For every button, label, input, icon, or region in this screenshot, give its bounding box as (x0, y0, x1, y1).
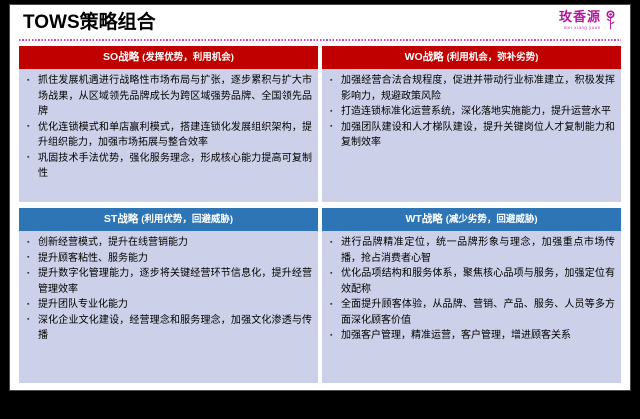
list-item: 提升团队专业化能力 (22, 297, 312, 313)
quadrant-wt-title: WT战略 (405, 213, 442, 225)
list-item: 优化品项结构和服务体系，聚焦核心品项与服务，加强定位有效配称 (325, 266, 615, 297)
quadrant-st-header: ST战略 (利用优势，回避威胁) (19, 208, 318, 231)
quadrant-so: SO战略 (发挥优势，利用机会) 抓住发展机遇进行战略性市场布局与扩张，逐步累积… (19, 46, 318, 202)
list-item: 深化企业文化建设，经营理念和服务理念，加强文化渗透与传播 (22, 313, 312, 344)
brand-name-cn: 玫香源 (559, 10, 601, 24)
slide-canvas: TOWS策略组合 玫香源 mei xiang yuan (9, 4, 631, 391)
page-title: TOWS策略组合 (19, 11, 621, 35)
rose-icon (602, 9, 619, 31)
list-item: 提升数字化管理能力，逐步将关键经营环节信息化，提升经营管理效率 (22, 266, 312, 297)
quadrant-so-bullets: 抓住发展机遇进行战略性市场布局与扩张，逐步累积与扩大市场战果，从区域领先品牌成长… (22, 73, 312, 182)
quadrant-wo-note: (利用机会，弥补劣势) (447, 52, 539, 63)
quadrant-st-body: 创新经营模式，提升在线营销能力 提升顾客粘性、服务能力 提升数字化管理能力，逐步… (19, 231, 318, 383)
tows-matrix: SO战略 (发挥优势，利用机会) 抓住发展机遇进行战略性市场布局与扩张，逐步累积… (19, 46, 621, 383)
quadrant-wt: WT战略 (减少劣势，回避威胁) 进行品牌精准定位，统一品牌形象与理念，加强重点… (322, 208, 621, 383)
quadrant-wo-body: 加强经营合法合规程度，促进并带动行业标准建立，积极发挥影响力，规避政策风险 打造… (322, 69, 621, 202)
quadrant-st: ST战略 (利用优势，回避威胁) 创新经营模式，提升在线营销能力 提升顾客粘性、… (19, 208, 318, 383)
list-item: 优化连锁模式和单店赢利模式，搭建连锁化发展组织架构，提升组织能力，加强市场拓展与… (22, 120, 312, 151)
list-item: 提升顾客粘性、服务能力 (22, 251, 312, 267)
quadrant-st-note: (利用优势，回避威胁) (141, 214, 233, 225)
quadrant-so-body: 抓住发展机遇进行战略性市场布局与扩张，逐步累积与扩大市场战果，从区域领先品牌成长… (19, 69, 318, 202)
quadrant-wt-header: WT战略 (减少劣势，回避威胁) (322, 208, 621, 231)
quadrant-wt-bullets: 进行品牌精准定位，统一品牌形象与理念，加强重点市场传播，抢占消费者心智 优化品项… (325, 235, 615, 344)
list-item: 加强客户管理，精准运营，客户管理，增进顾客关系 (325, 328, 615, 344)
quadrant-wo-header: WO战略 (利用机会，弥补劣势) (322, 46, 621, 69)
quadrant-so-header: SO战略 (发挥优势，利用机会) (19, 46, 318, 69)
quadrant-so-title: SO战略 (103, 51, 139, 63)
brand-name-pinyin: mei xiang yuan (564, 24, 601, 31)
quadrant-wo-title: WO战略 (405, 51, 444, 63)
title-divider (19, 39, 621, 41)
quadrant-wo-bullets: 加强经营合法合规程度，促进并带动行业标准建立，积极发挥影响力，规避政策风险 打造… (325, 73, 615, 151)
title-row: TOWS策略组合 玫香源 mei xiang yuan (19, 11, 621, 38)
list-item: 全面提升顾客体验，从品牌、营销、产品、服务、人员等多方面深化顾客价值 (325, 297, 615, 328)
list-item: 加强经营合法合规程度，促进并带动行业标准建立，积极发挥影响力，规避政策风险 (325, 73, 615, 104)
quadrant-wt-body: 进行品牌精准定位，统一品牌形象与理念，加强重点市场传播，抢占消费者心智 优化品项… (322, 231, 621, 383)
quadrant-st-bullets: 创新经营模式，提升在线营销能力 提升顾客粘性、服务能力 提升数字化管理能力，逐步… (22, 235, 312, 344)
quadrant-wt-note: (减少劣势，回避威胁) (446, 214, 538, 225)
list-item: 加强团队建设和人才梯队建设，提升关键岗位人才复制能力和复制效率 (325, 120, 615, 151)
brand-text-wrap: 玫香源 mei xiang yuan (559, 10, 601, 31)
list-item: 创新经营模式，提升在线营销能力 (22, 235, 312, 251)
quadrant-st-title: ST战略 (104, 213, 138, 225)
list-item: 打造连锁标准化运营系统，深化落地实施能力，提升运营水平 (325, 104, 615, 120)
list-item: 抓住发展机遇进行战略性市场布局与扩张，逐步累积与扩大市场战果，从区域领先品牌成长… (22, 73, 312, 120)
quadrant-so-note: (发挥优势，利用机会) (142, 52, 234, 63)
list-item: 巩固技术手法优势，强化服务理念，形成核心能力提高可复制性 (22, 151, 312, 182)
slide-outer-frame: TOWS策略组合 玫香源 mei xiang yuan (0, 0, 640, 419)
brand-logo: 玫香源 mei xiang yuan (559, 9, 619, 31)
list-item: 进行品牌精准定位，统一品牌形象与理念，加强重点市场传播，抢占消费者心智 (325, 235, 615, 266)
quadrant-wo: WO战略 (利用机会，弥补劣势) 加强经营合法合规程度，促进并带动行业标准建立，… (322, 46, 621, 202)
